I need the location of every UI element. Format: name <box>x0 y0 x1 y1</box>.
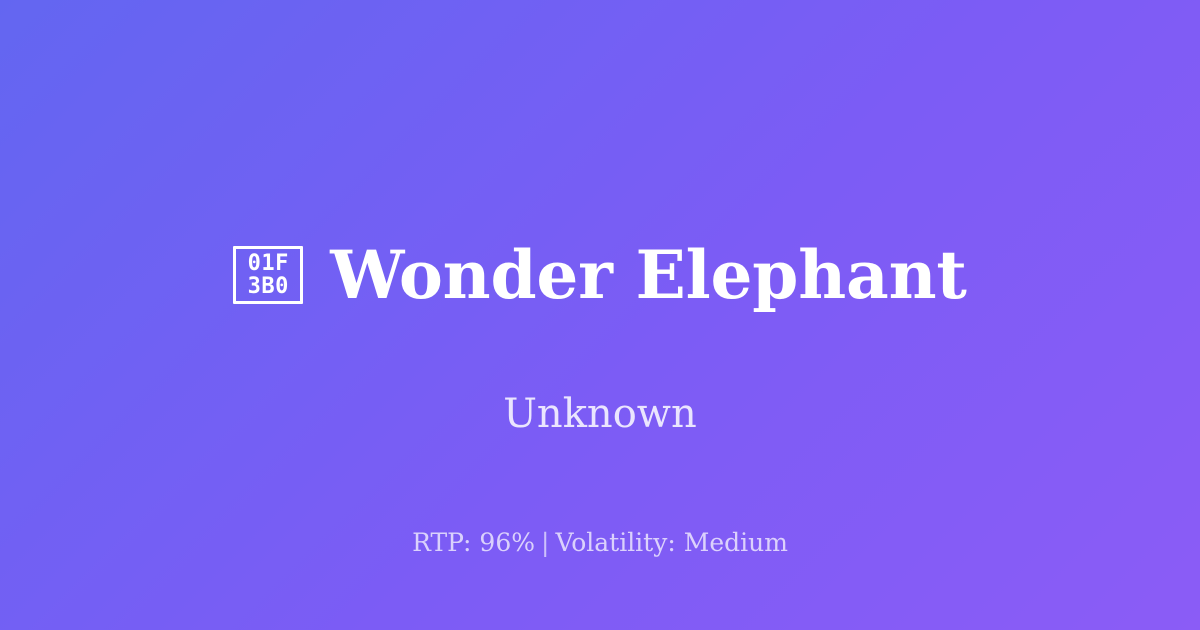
hero-block: 01F 3B0 Wonder Elephant Unknown <box>0 214 1200 436</box>
glyph-hex-top: 01F <box>248 252 289 275</box>
game-provider-subtitle: Unknown <box>503 392 697 436</box>
page-title: Wonder Elephant <box>330 241 966 310</box>
title-row: 01F 3B0 Wonder Elephant <box>233 214 966 336</box>
glyph-hex-bottom: 3B0 <box>248 275 289 298</box>
meta-separator: | <box>535 528 555 557</box>
rtp-value: RTP: 96% <box>412 528 535 557</box>
game-preview-card: 01F 3B0 Wonder Elephant Unknown RTP: 96%… <box>0 0 1200 630</box>
volatility-value: Volatility: Medium <box>555 528 787 557</box>
slot-machine-icon: 01F 3B0 <box>233 246 303 304</box>
game-meta-line: RTP: 96%|Volatility: Medium <box>0 528 1200 558</box>
